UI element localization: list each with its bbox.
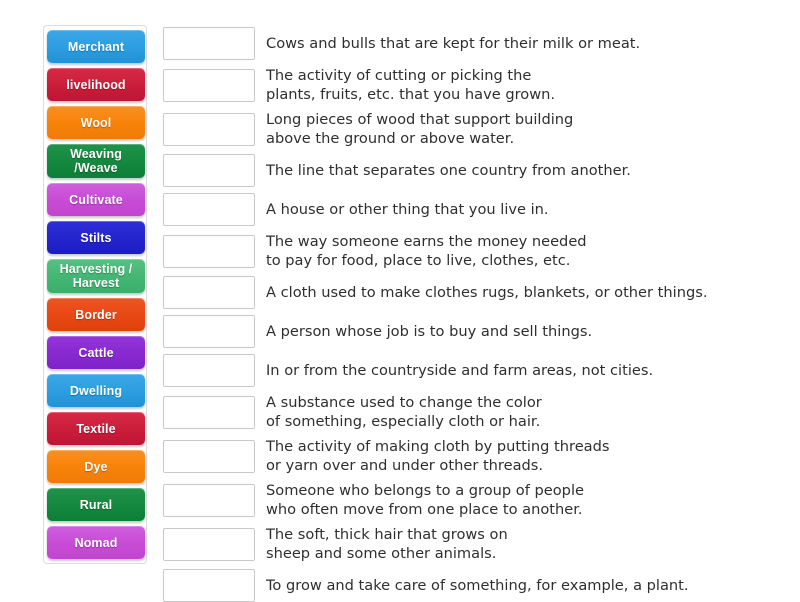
match-row: Cows and bulls that are kept for their m… (163, 27, 783, 60)
answer-dropzone[interactable] (163, 528, 255, 561)
definition-text: The way someone earns the money needed t… (266, 232, 783, 270)
match-row: The activity of making cloth by putting … (163, 437, 783, 475)
match-row: Long pieces of wood that support buildin… (163, 110, 783, 148)
definition-text: A substance used to change the color of … (266, 393, 783, 431)
answer-dropzone[interactable] (163, 569, 255, 602)
answer-dropzone[interactable] (163, 484, 255, 517)
definition-text: A house or other thing that you live in. (266, 200, 783, 219)
word-tile-label: Weaving /Weave (49, 147, 143, 175)
word-tile-border[interactable]: Border (47, 298, 145, 331)
answer-dropzone[interactable] (163, 113, 255, 146)
definition-text: The activity of making cloth by putting … (266, 437, 783, 475)
answer-dropzone[interactable] (163, 440, 255, 473)
word-tile-livelihood[interactable]: livelihood (47, 68, 145, 101)
definition-text: A person whose job is to buy and sell th… (266, 322, 783, 341)
answer-dropzone[interactable] (163, 235, 255, 268)
word-tile-cattle[interactable]: Cattle (47, 336, 145, 369)
definition-text: Cows and bulls that are kept for their m… (266, 34, 783, 53)
match-row: A person whose job is to buy and sell th… (163, 315, 783, 348)
word-tile-label: Border (75, 308, 117, 322)
match-up-activity: Merchant livelihood Wool Weaving /Weave … (0, 0, 800, 600)
match-row: In or from the countryside and farm area… (163, 354, 783, 387)
word-tile-merchant[interactable]: Merchant (47, 30, 145, 63)
answer-dropzone[interactable] (163, 276, 255, 309)
word-tile-cultivate[interactable]: Cultivate (47, 183, 145, 216)
word-tile-harvesting-harvest[interactable]: Harvesting / Harvest (47, 259, 145, 293)
match-row: A house or other thing that you live in. (163, 193, 783, 226)
word-tile-label: Cattle (78, 346, 113, 360)
word-tile-label: Merchant (68, 40, 124, 54)
word-tile-label: Nomad (75, 536, 118, 550)
word-tile-textile[interactable]: Textile (47, 412, 145, 445)
answer-dropzone[interactable] (163, 354, 255, 387)
word-bank-panel: Merchant livelihood Wool Weaving /Weave … (43, 25, 147, 564)
word-tile-weaving-weave[interactable]: Weaving /Weave (47, 144, 145, 178)
definition-text: The soft, thick hair that grows on sheep… (266, 525, 783, 563)
match-row: The way someone earns the money needed t… (163, 232, 783, 270)
word-tile-label: Harvesting / Harvest (49, 262, 143, 290)
definition-text: To grow and take care of something, for … (266, 576, 783, 595)
word-tile-label: Dwelling (70, 384, 122, 398)
word-tile-rural[interactable]: Rural (47, 488, 145, 521)
word-tile-wool[interactable]: Wool (47, 106, 145, 139)
definition-text: The activity of cutting or picking the p… (266, 66, 783, 104)
answer-dropzone[interactable] (163, 193, 255, 226)
match-row: A cloth used to make clothes rugs, blank… (163, 276, 783, 309)
answer-dropzone[interactable] (163, 27, 255, 60)
answer-dropzone[interactable] (163, 69, 255, 102)
definition-text: In or from the countryside and farm area… (266, 361, 783, 380)
match-row: To grow and take care of something, for … (163, 569, 783, 602)
word-tile-label: Wool (81, 116, 112, 130)
match-row: A substance used to change the color of … (163, 393, 783, 431)
definition-rows: Cows and bulls that are kept for their m… (163, 27, 783, 602)
word-tile-label: Dye (84, 460, 107, 474)
word-tile-nomad[interactable]: Nomad (47, 526, 145, 559)
word-tile-label: Cultivate (69, 193, 123, 207)
word-tile-stilts[interactable]: Stilts (47, 221, 145, 254)
word-tile-label: livelihood (66, 78, 125, 92)
answer-dropzone[interactable] (163, 154, 255, 187)
match-row: The soft, thick hair that grows on sheep… (163, 525, 783, 563)
match-row: Someone who belongs to a group of people… (163, 481, 783, 519)
answer-dropzone[interactable] (163, 396, 255, 429)
definition-text: The line that separates one country from… (266, 161, 783, 180)
word-tile-label: Textile (76, 422, 115, 436)
match-row: The activity of cutting or picking the p… (163, 66, 783, 104)
answer-dropzone[interactable] (163, 315, 255, 348)
match-row: The line that separates one country from… (163, 154, 783, 187)
definition-text: A cloth used to make clothes rugs, blank… (266, 283, 783, 302)
word-tile-label: Stilts (80, 231, 111, 245)
word-tile-label: Rural (80, 498, 112, 512)
definition-text: Long pieces of wood that support buildin… (266, 110, 783, 148)
word-tile-dye[interactable]: Dye (47, 450, 145, 483)
definition-text: Someone who belongs to a group of people… (266, 481, 783, 519)
word-tile-dwelling[interactable]: Dwelling (47, 374, 145, 407)
